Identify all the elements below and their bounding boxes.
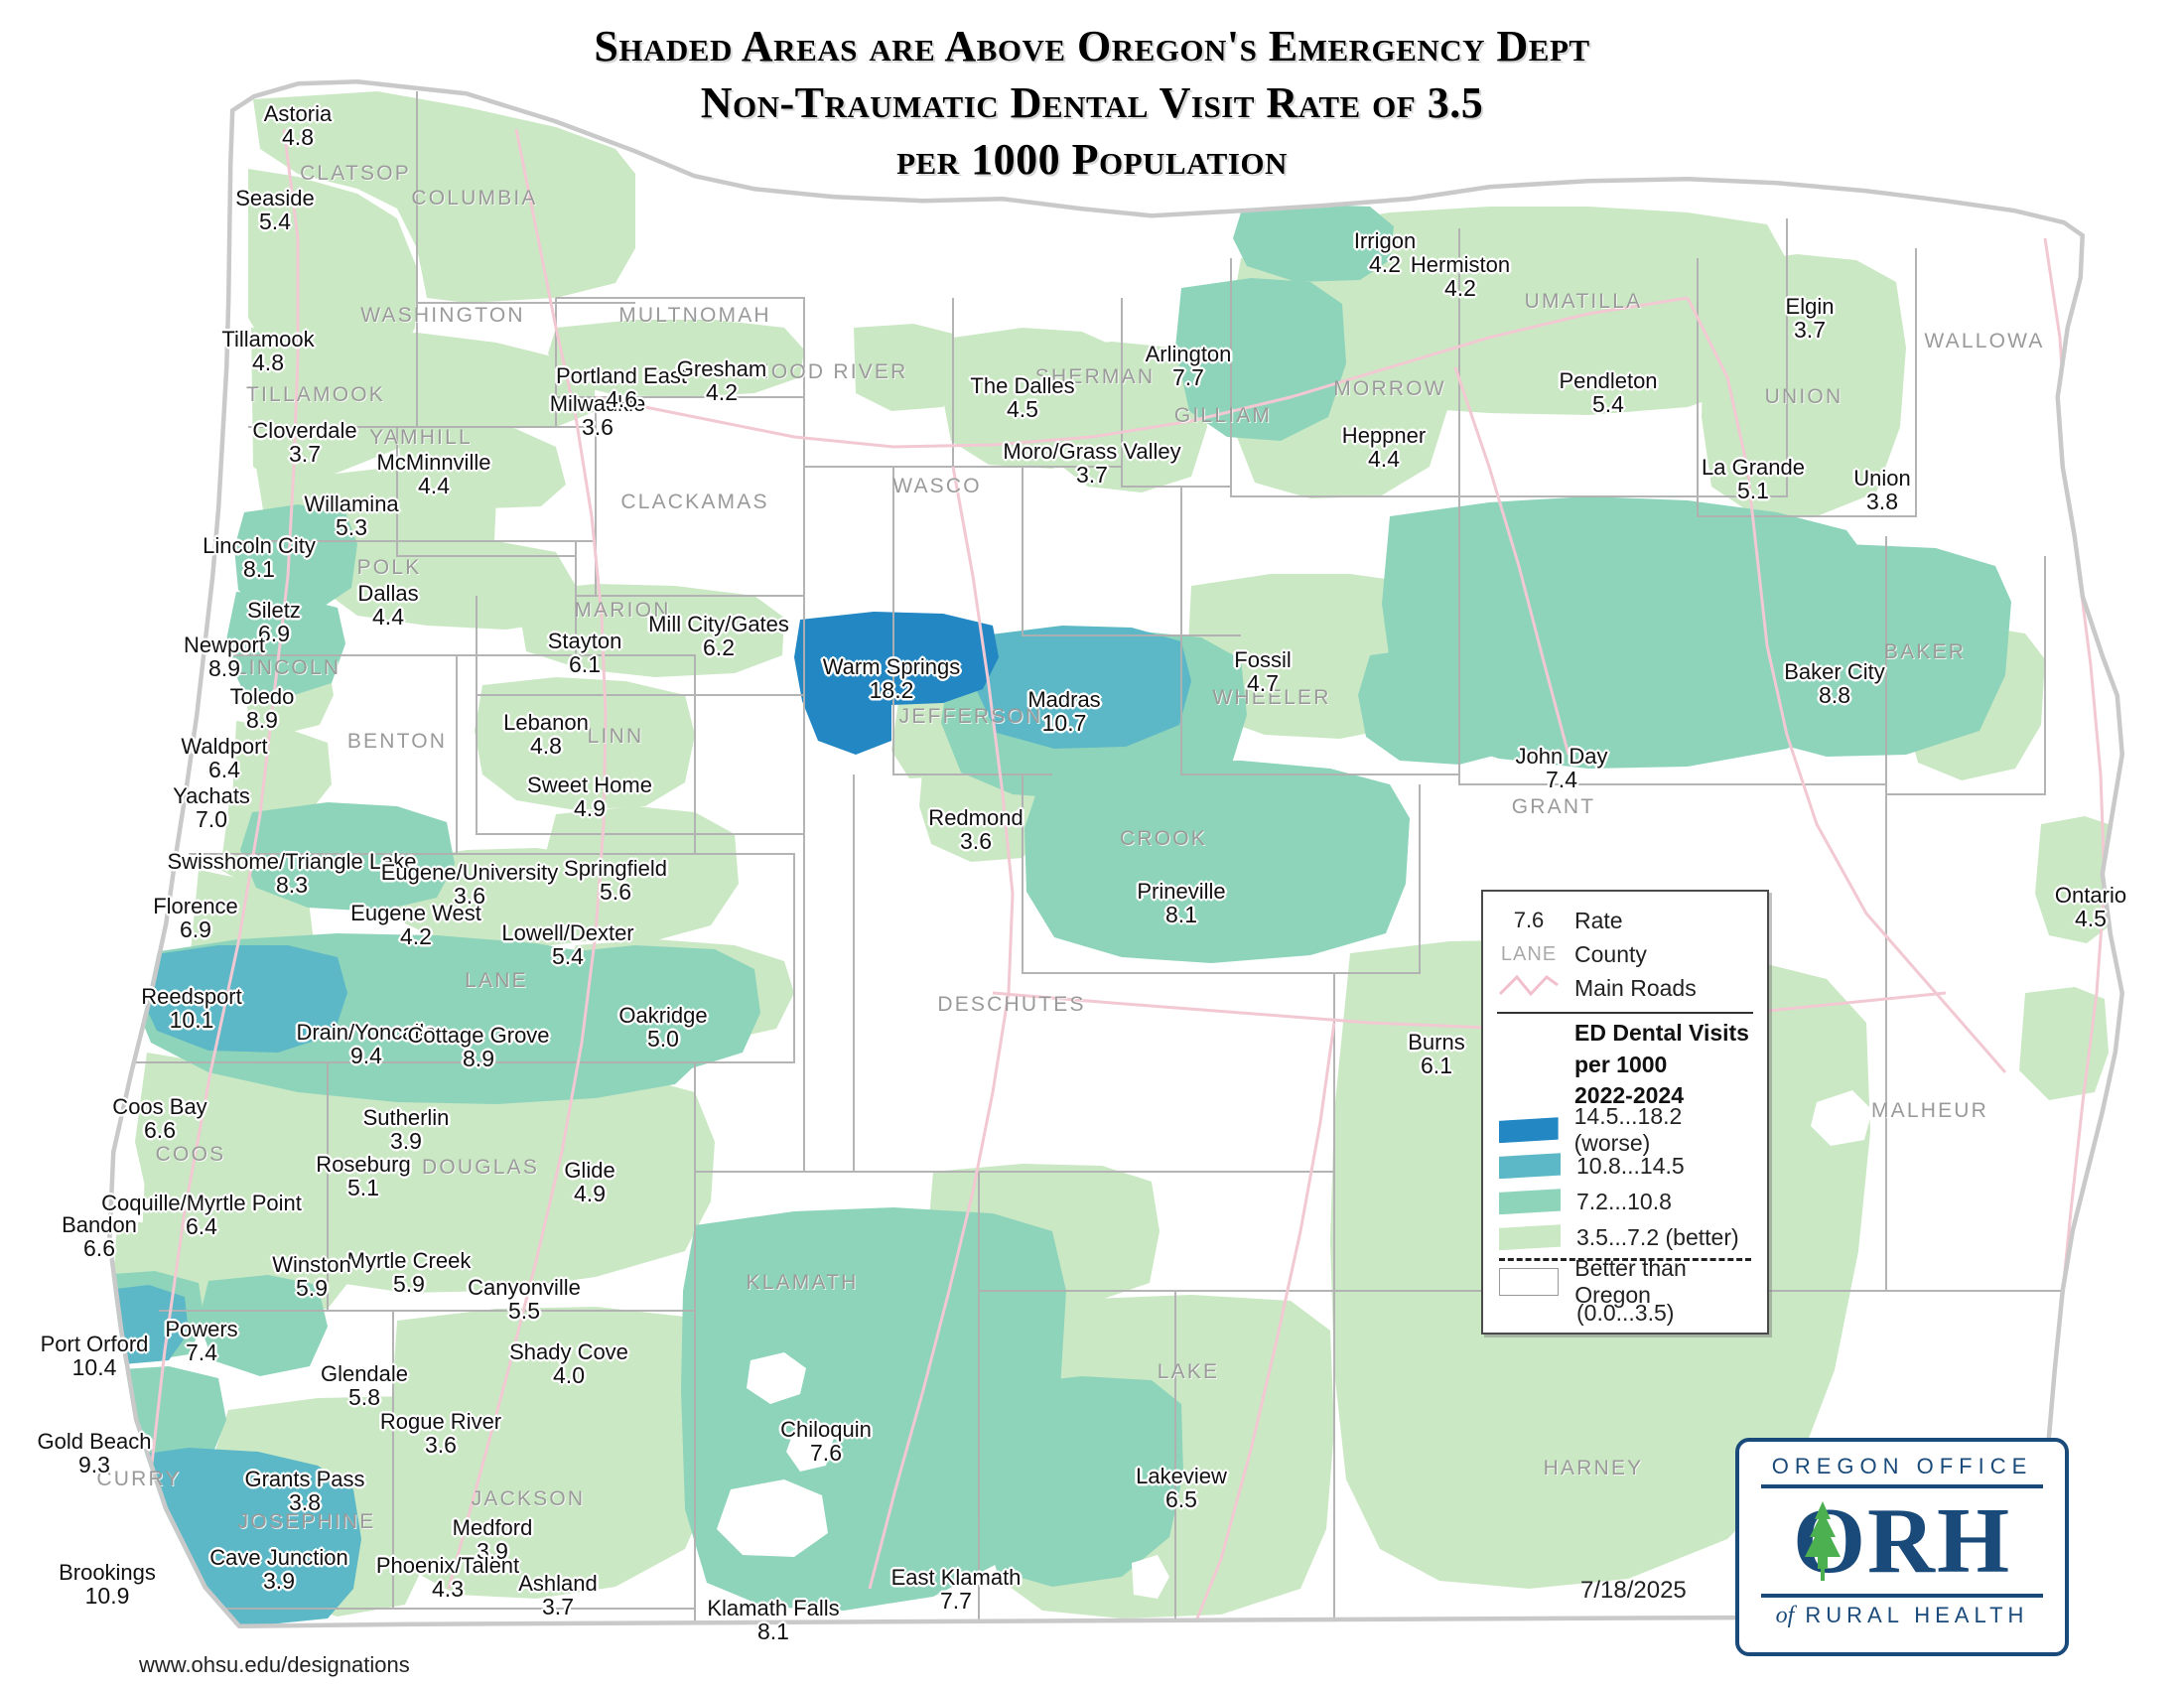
place-rate: 4.7 [1234,671,1291,695]
logo-bottom-text: of RURAL HEALTH [1755,1603,2049,1629]
place-rate: 5.9 [347,1272,472,1296]
place-label[interactable]: Heppner4.4 [1342,424,1426,471]
place-label[interactable]: Irrigon4.2 [1354,229,1416,276]
place-rate: 4.8 [503,734,589,758]
place-name: Swisshome/Triangle Lake [167,850,416,873]
place-rate: 5.5 [468,1299,581,1323]
legend-class-label: 3.5...7.2 (better) [1561,1224,1739,1251]
place-rate: 5.6 [564,880,667,904]
place-label[interactable]: Burns6.1 [1408,1031,1464,1077]
map-legend: 7.6 Rate LANE County Main Roads ED Denta… [1481,890,1769,1335]
place-label[interactable]: Fossil4.7 [1234,648,1291,695]
county-label: MORROW [1333,377,1446,401]
place-label[interactable]: Madras10.7 [1027,688,1100,735]
place-name: Arlington [1146,343,1232,365]
place-name: Willamina [304,492,398,515]
place-name: Glide [564,1159,614,1182]
place-label[interactable]: Gold Beach9.3 [38,1430,152,1477]
legend-heading-2: per 1000 [1493,1050,1757,1081]
county-label: DOUGLAS [422,1156,539,1180]
place-rate: 4.8 [221,351,314,374]
place-rate: 4.9 [527,796,652,820]
legend-rate-sample: 7.6 [1493,908,1565,933]
place-name: Moro/Grass Valley [1003,440,1180,463]
county-label: KLAMATH [746,1271,858,1295]
county-label: CLACKAMAS [620,491,768,514]
place-label[interactable]: Elgin3.7 [1786,295,1835,342]
place-rate: 5.8 [321,1385,408,1409]
place-name: Madras [1027,688,1100,711]
place-rate: 3.9 [209,1569,347,1593]
place-label[interactable]: Mill City/Gates6.2 [648,613,789,659]
legend-county-label: County [1565,941,1647,968]
place-label[interactable]: Ontario4.5 [2055,884,2126,930]
county-label: UMATILLA [1525,290,1643,314]
legend-row-county: LANE County [1493,937,1757,971]
place-name: McMinnville [377,451,491,474]
place-label[interactable]: Moro/Grass Valley3.7 [1003,440,1180,487]
place-rate: 4.6 [556,387,687,411]
legend-swatch [1499,1153,1561,1179]
place-name: Sweet Home [527,774,652,796]
place-rate: 9.3 [38,1453,152,1477]
place-name: Newport [184,633,265,656]
footer-url: www.ohsu.edu/designations [139,1652,410,1678]
place-rate: 3.6 [928,829,1023,853]
place-name: Coquille/Myrtle Point [101,1192,302,1214]
place-name: Tillamook [221,328,314,351]
county-label: WASCO [892,475,982,498]
place-name: Lowell/Dexter [501,921,633,944]
place-name: Gold Beach [38,1430,152,1453]
place-rate: 7.4 [165,1340,237,1364]
place-label[interactable]: East Klamath7.7 [891,1566,1022,1613]
county-label: WASHINGTON [360,304,525,328]
place-label[interactable]: Redmond3.6 [928,806,1023,853]
map-date: 7/18/2025 [1580,1577,1687,1605]
county-label: MALHEUR [1871,1099,1988,1123]
place-name: Lincoln City [203,534,316,557]
place-rate: 10.7 [1027,711,1100,735]
place-rate: 4.5 [2055,907,2126,930]
place-name: Fossil [1234,648,1291,671]
place-name: Medford [453,1516,533,1539]
place-label[interactable]: Cloverdale3.7 [252,419,356,466]
legend-swatch [1499,1117,1559,1143]
place-label[interactable]: Yachats7.0 [173,784,250,831]
place-label[interactable]: Reedsport10.1 [141,985,242,1032]
legend-row-below: Better than Oregon [1493,1264,1757,1300]
place-rate: 6.5 [1136,1487,1227,1511]
place-label[interactable]: Gresham4.2 [677,357,766,404]
place-name: Canyonville [468,1276,581,1299]
place-name: Yachats [173,784,250,807]
place-rate: 6.1 [548,652,622,676]
place-label[interactable]: Warm Springs18.2 [823,655,961,702]
place-rate: 4.8 [264,125,332,149]
place-rate: 6.2 [648,635,789,659]
place-rate: 10.1 [141,1008,242,1032]
place-name: Redmond [928,806,1023,829]
place-rate: 7.6 [780,1441,872,1465]
legend-heading-1: ED Dental Visits [1493,1018,1757,1050]
place-label[interactable]: Arlington7.7 [1146,343,1232,389]
place-rate: 10.9 [59,1584,156,1608]
county-label: LINN [588,725,644,749]
place-name: Lakeview [1136,1465,1227,1487]
logo-top-text: OREGON OFFICE [1755,1454,2049,1479]
place-name: Coos Bay [112,1095,206,1118]
place-name: Klamath Falls [707,1597,839,1619]
place-name: La Grande [1702,456,1805,479]
place-rate: 3.6 [380,1433,501,1457]
place-name: Chiloquin [780,1418,872,1441]
place-label[interactable]: Willamina5.3 [304,492,398,539]
legend-class-label: 14.5...18.2 (worse) [1559,1103,1757,1157]
map-svg [0,0,2184,1688]
place-label[interactable]: Lincoln City8.1 [203,534,316,581]
place-label[interactable]: Waldport6.4 [181,735,267,781]
place-name: Sutherlin [363,1106,450,1129]
place-label[interactable]: Toledo8.9 [230,685,295,732]
place-name: Hermiston [1411,253,1510,276]
place-rate: 6.6 [62,1236,137,1260]
place-rate: 8.9 [184,656,265,680]
place-label[interactable]: Powers7.4 [165,1318,237,1364]
legend-rate-label: Rate [1565,908,1623,934]
county-label: HOOD RIVER [753,360,907,384]
place-rate: 7.4 [1516,768,1608,791]
place-label[interactable]: Sutherlin3.9 [363,1106,450,1153]
county-label: POLK [357,556,422,580]
place-label[interactable]: Ashland3.7 [518,1572,598,1618]
county-label: LAKE [1158,1360,1220,1384]
place-rate: 4.2 [350,924,481,948]
place-name: Cottage Grove [407,1024,549,1047]
place-rate: 3.8 [1853,490,1910,513]
place-label[interactable]: Portland East4.6 [556,364,687,411]
place-label[interactable]: Dallas4.4 [357,582,418,629]
place-name: Gresham [677,357,766,380]
place-label[interactable]: Rogue River3.6 [380,1410,501,1457]
road-line-icon [1493,972,1565,1004]
place-rate: 4.2 [1411,276,1510,300]
place-name: Astoria [264,102,332,125]
place-name: Irrigon [1354,229,1416,252]
place-label[interactable]: Astoria4.8 [264,102,332,149]
place-label[interactable]: Klamath Falls8.1 [707,1597,839,1643]
place-name: Oakridge [618,1004,707,1027]
place-rate: 4.9 [564,1182,614,1205]
legend-divider [1497,1012,1753,1014]
county-label: WALLOWA [1924,330,2044,353]
place-label[interactable]: Grants Pass3.8 [244,1468,364,1514]
place-rate: 8.1 [1137,903,1225,926]
place-label[interactable]: Springfield5.6 [564,857,667,904]
county-label: HARNEY [1544,1457,1644,1480]
place-rate: 5.4 [1559,392,1657,416]
county-label: GILLIAM [1174,404,1272,428]
place-rate: 18.2 [823,678,961,702]
place-name: Reedsport [141,985,242,1008]
place-rate: 8.8 [1784,683,1884,707]
logo-of-text: of [1776,1603,1795,1628]
place-label[interactable]: Bandon6.6 [62,1213,137,1260]
place-name: Grants Pass [244,1468,364,1490]
county-label: JEFFERSON [899,705,1043,729]
place-name: Port Orford [41,1333,149,1355]
place-rate: 3.8 [244,1490,364,1514]
place-name: East Klamath [891,1566,1022,1589]
place-label[interactable]: Eugene/University3.6 [381,861,559,908]
place-name: Stayton [548,630,622,652]
county-label: LANE [465,969,528,993]
place-rate: 5.1 [316,1176,410,1199]
place-name: Brookings [59,1561,156,1584]
place-label[interactable]: Shady Cove4.0 [509,1340,628,1387]
place-name: Rogue River [380,1410,501,1433]
legend-class-row: 3.5...7.2 (better) [1493,1219,1757,1255]
place-rate: 4.3 [376,1577,519,1601]
county-label: TILLAMOOK [246,383,385,407]
county-label: COLUMBIA [411,187,537,211]
place-label[interactable]: Baker City8.8 [1784,660,1884,707]
place-rate: 6.4 [181,758,267,781]
place-name: Phoenix/Talent [376,1554,519,1577]
place-label[interactable]: John Day7.4 [1516,745,1608,791]
legend-class-list: 14.5...18.2 (worse)10.8...14.57.2...10.8… [1493,1112,1757,1255]
orh-logo: OREGON OFFICE ORH of RURAL HEALTH [1735,1438,2069,1656]
place-rate: 4.4 [1342,447,1426,471]
place-name: Powers [165,1318,237,1340]
place-name: Pendleton [1559,369,1657,392]
place-label[interactable]: Roseburg5.1 [316,1153,410,1199]
place-label[interactable]: Lebanon4.8 [503,711,589,758]
place-label[interactable]: Canyonville5.5 [468,1276,581,1323]
place-rate: 8.1 [203,557,316,581]
place-name: Springfield [564,857,667,880]
place-name: John Day [1516,745,1608,768]
place-rate: 10.4 [41,1355,149,1379]
legend-swatch [1499,1189,1561,1214]
place-name: Winston [272,1253,350,1276]
county-label: JACKSON [472,1487,586,1511]
place-name: Waldport [181,735,267,758]
logo-rural-health-text: RURAL HEALTH [1805,1603,2028,1627]
legend-class-label: 7.2...10.8 [1561,1189,1672,1215]
logo-rule-top [1761,1484,2043,1488]
place-rate: 6.9 [153,917,238,941]
place-rate: 6.1 [1408,1054,1464,1077]
place-label[interactable]: Seaside5.4 [235,187,315,233]
county-label: BENTON [347,730,447,754]
place-label[interactable]: Port Orford10.4 [41,1333,149,1379]
logo-rule-bottom [1761,1594,2043,1598]
place-rate: 3.7 [518,1595,598,1618]
place-rate: 5.1 [1702,479,1805,502]
pine-tree-icon [1795,1497,1850,1590]
legend-roads-label: Main Roads [1565,975,1697,1002]
place-label[interactable]: La Grande5.1 [1702,456,1805,502]
place-label[interactable]: Tillamook4.8 [221,328,314,374]
place-name: Ontario [2055,884,2126,907]
place-name: Myrtle Creek [347,1249,472,1272]
place-rate: 4.0 [509,1363,628,1387]
place-label[interactable]: Lowell/Dexter5.4 [501,921,633,968]
legend-class-row: 7.2...10.8 [1493,1184,1757,1219]
place-name: Cloverdale [252,419,356,442]
legend-class-row: 14.5...18.2 (worse) [1493,1112,1757,1148]
place-label[interactable]: Prineville8.1 [1137,880,1225,926]
county-label: MULTNOMAH [618,304,771,328]
legend-swatch [1499,1224,1561,1250]
place-rate: 4.5 [970,397,1074,421]
place-label[interactable]: Myrtle Creek5.9 [347,1249,472,1296]
legend-class-label: 10.8...14.5 [1561,1153,1685,1180]
place-name: Roseburg [316,1153,410,1176]
place-label[interactable]: The Dalles4.5 [970,374,1074,421]
county-label: CROOK [1120,827,1207,851]
place-name: Mill City/Gates [648,613,789,635]
place-rate: 3.7 [1003,463,1180,487]
place-rate: 5.4 [501,944,633,968]
place-name: Burns [1408,1031,1464,1054]
county-label: UNION [1765,385,1843,409]
place-label[interactable]: Pendleton5.4 [1559,369,1657,416]
place-rate: 3.7 [1786,318,1835,342]
county-label: BAKER [1884,640,1966,664]
place-rate: 7.7 [1146,365,1232,389]
place-name: The Dalles [970,374,1074,397]
place-name: Portland East [556,364,687,387]
place-name: Florence [153,895,238,917]
place-rate: 7.7 [891,1589,1022,1613]
place-name: Ashland [518,1572,598,1595]
oregon-choropleth-map[interactable]: CLATSOPCOLUMBIAWASHINGTONTILLAMOOKYAMHIL… [0,0,2184,1688]
place-name: Siletz [247,599,301,622]
place-label[interactable]: Newport8.9 [184,633,265,680]
place-rate: 4.4 [357,605,418,629]
county-label: COOS [156,1143,226,1167]
place-label[interactable]: Winston5.9 [272,1253,350,1300]
place-name: Glendale [321,1362,408,1385]
place-label[interactable]: Swisshome/Triangle Lake8.3 [167,850,416,897]
place-name: Heppner [1342,424,1426,447]
place-label[interactable]: Union3.8 [1853,467,1910,513]
place-rate: 4.2 [1354,252,1416,276]
place-rate: 8.9 [407,1047,549,1070]
county-label: CLATSOP [300,162,411,186]
place-label[interactable]: Chiloquin7.6 [780,1418,872,1465]
place-label[interactable]: Hermiston4.2 [1411,253,1510,300]
logo-wordmark-wrap: ORH [1755,1493,2049,1589]
place-name: Prineville [1137,880,1225,903]
county-label: GRANT [1512,795,1596,819]
place-name: Dallas [357,582,418,605]
place-label[interactable]: Stayton6.1 [548,630,622,676]
place-rate: 8.9 [230,708,295,732]
place-label[interactable]: Sweet Home4.9 [527,774,652,820]
place-rate: 3.6 [550,415,646,439]
place-rate: 8.1 [707,1619,839,1643]
legend-row-roads: Main Roads [1493,971,1757,1005]
place-label[interactable]: Lakeview6.5 [1136,1465,1227,1511]
place-name: Bandon [62,1213,137,1236]
place-label[interactable]: Glendale5.8 [321,1362,408,1409]
place-rate: 6.6 [112,1118,206,1142]
place-name: Eugene/University [381,861,559,884]
place-rate: 3.6 [381,884,559,908]
place-name: Shady Cove [509,1340,628,1363]
county-label: DESCHUTES [937,993,1085,1017]
place-label[interactable]: Florence6.9 [153,895,238,941]
county-label: YAMHILL [369,426,473,450]
place-rate: 7.0 [173,807,250,831]
place-label[interactable]: Coos Bay6.6 [112,1095,206,1142]
place-rate: 4.2 [677,380,766,404]
place-rate: 3.7 [252,442,356,466]
place-name: Warm Springs [823,655,961,678]
place-name: Union [1853,467,1910,490]
legend-county-sample: LANE [1493,943,1565,966]
place-name: Cave Junction [209,1546,347,1569]
place-label[interactable]: Oakridge5.0 [618,1004,707,1051]
place-label[interactable]: Phoenix/Talent4.3 [376,1554,519,1601]
place-rate: 5.4 [235,210,315,233]
place-rate: 5.3 [304,515,398,539]
place-label[interactable]: Cave Junction3.9 [209,1546,347,1593]
place-label[interactable]: Glide4.9 [564,1159,614,1205]
place-name: Elgin [1786,295,1835,318]
place-name: Baker City [1784,660,1884,683]
place-label[interactable]: Cottage Grove8.9 [407,1024,549,1070]
place-name: Seaside [235,187,315,210]
place-name: Lebanon [503,711,589,734]
place-name: Toledo [230,685,295,708]
place-label[interactable]: Eugene West4.2 [350,902,481,948]
place-rate: 5.9 [272,1276,350,1300]
place-rate: 3.9 [363,1129,450,1153]
place-rate: 5.0 [618,1027,707,1051]
legend-row-rate: 7.6 Rate [1493,904,1757,937]
legend-swatch-below [1499,1268,1559,1296]
place-label[interactable]: Brookings10.9 [59,1561,156,1608]
